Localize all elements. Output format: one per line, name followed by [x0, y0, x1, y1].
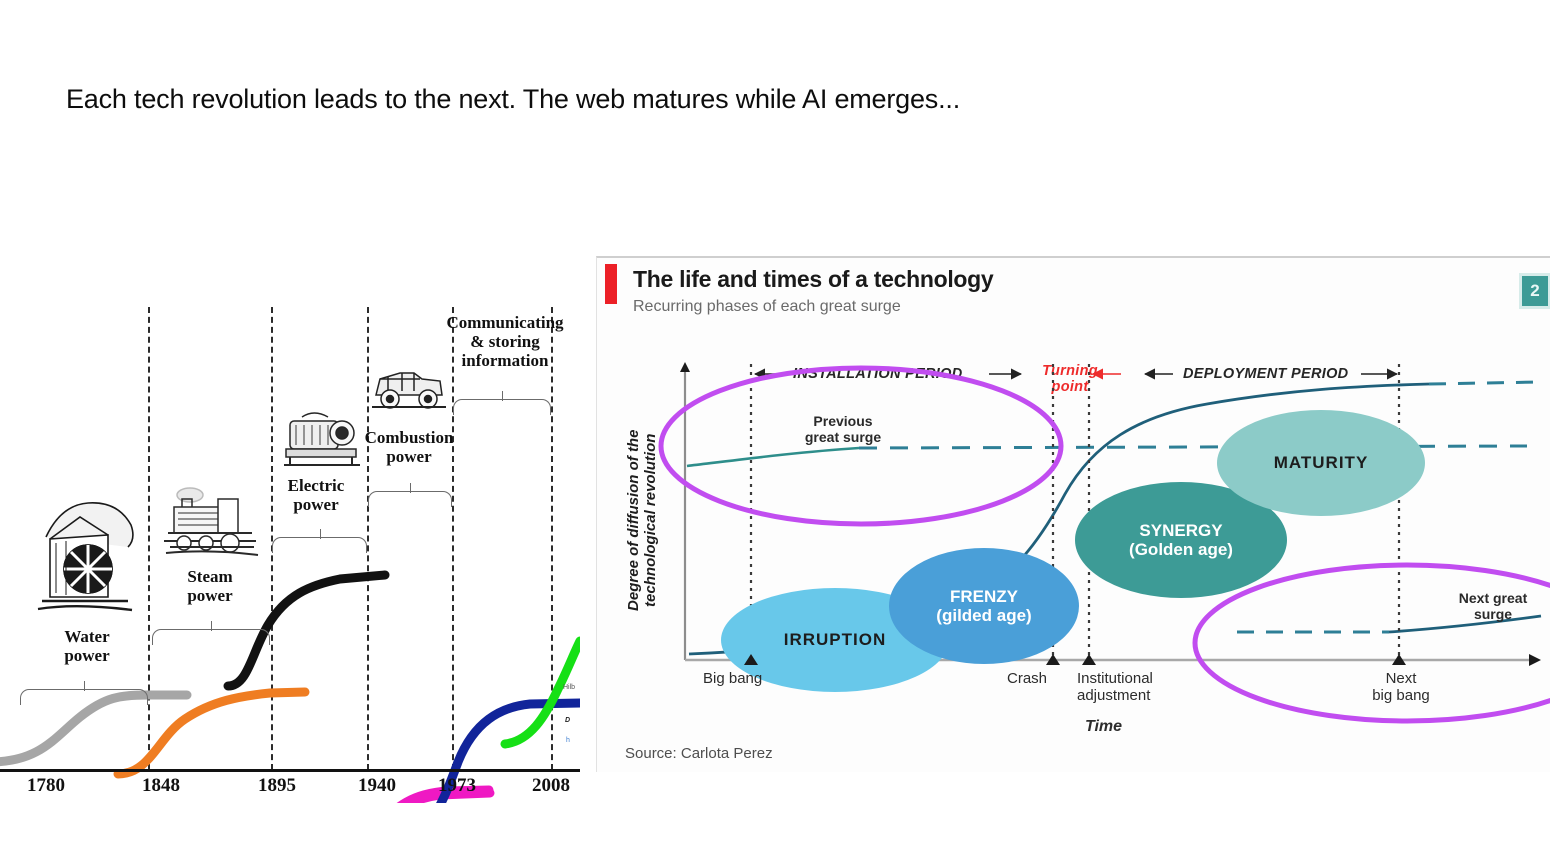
annotation-previous-great-surge: Previous great surge — [773, 413, 913, 445]
left-figure-plot: 1780 1848 1895 1940 1973 2008 — [0, 307, 580, 803]
era-brace-combustion-power — [368, 491, 452, 507]
x-tick-1973: 1973 — [438, 775, 476, 797]
left-figure-tech-revolutions: 1780 1848 1895 1940 1973 2008 — [0, 307, 580, 803]
right-figure-subtitle: Recurring phases of each great surge — [633, 298, 901, 316]
fine-print-doi: D — [565, 717, 570, 724]
water-wheel-engraving — [36, 477, 141, 622]
fine-print-hilbert: Hilb — [563, 684, 575, 691]
slide-canvas: Each tech revolution leads to the next. … — [0, 0, 1550, 858]
x-axis-label-time: Time — [1085, 718, 1122, 736]
era-brace-water-power — [20, 689, 148, 705]
right-figure-carlota-perez-surge: The life and times of a technology Recur… — [596, 256, 1550, 772]
electric-generator-engraving — [282, 407, 364, 469]
marker-institutional-adjustment-triangle — [1082, 654, 1096, 665]
red-accent-bar — [605, 264, 617, 304]
x-tick-1848: 1848 — [142, 775, 180, 797]
phase-bubble-maturity: MATURITY — [1217, 410, 1425, 516]
era-brace-electric-power — [272, 537, 367, 553]
x-tick-1895: 1895 — [258, 775, 296, 797]
slide-headline: Each tech revolution leads to the next. … — [66, 84, 960, 115]
axis-label-next-big-bang: Next big bang — [1361, 670, 1441, 705]
period-label-installation: INSTALLATION PERIOD — [793, 366, 963, 382]
era-label-steam-power: Steam power — [152, 567, 268, 605]
axis-label-crash: Crash — [1007, 670, 1047, 687]
right-figure-title: The life and times of a technology — [633, 266, 993, 293]
phase-bubble-frenzy: FRENZY (gilded age) — [889, 548, 1079, 664]
left-figure-x-axis — [0, 769, 580, 772]
x-tick-1940: 1940 — [358, 775, 396, 797]
fine-print-link: h — [566, 737, 570, 744]
era-brace-steam-power — [152, 629, 270, 645]
axis-label-big-bang: Big bang — [703, 670, 762, 687]
y-axis-label: Degree of diffusion of the technological… — [625, 405, 660, 635]
era-label-communicating-storing-information: Communicating & storing information — [437, 313, 573, 370]
axis-label-institutional-adjustment: Institutional adjustment — [1077, 670, 1153, 705]
era-label-electric-power: Electric power — [260, 476, 372, 514]
era-brace-communicating-storing — [453, 399, 551, 415]
page-number-badge: 2 — [1522, 276, 1548, 306]
marker-crash-triangle — [1046, 654, 1060, 665]
era-label-water-power: Water power — [27, 627, 147, 665]
x-tick-2008: 2008 — [532, 775, 570, 797]
era-label-combustion-power: Combustion power — [362, 428, 456, 466]
x-tick-1780: 1780 — [27, 775, 65, 797]
annotation-next-great-surge: Next great surge — [1433, 590, 1550, 622]
steam-locomotive-engraving — [160, 485, 260, 565]
period-label-turning-point: Turning point — [1029, 364, 1111, 396]
marker-next-big-bang-triangle — [1392, 654, 1406, 665]
marker-big-bang-triangle — [744, 654, 758, 665]
right-figure-source: Source: Carlota Perez — [625, 745, 773, 762]
period-label-deployment: DEPLOYMENT PERIOD — [1183, 366, 1348, 382]
